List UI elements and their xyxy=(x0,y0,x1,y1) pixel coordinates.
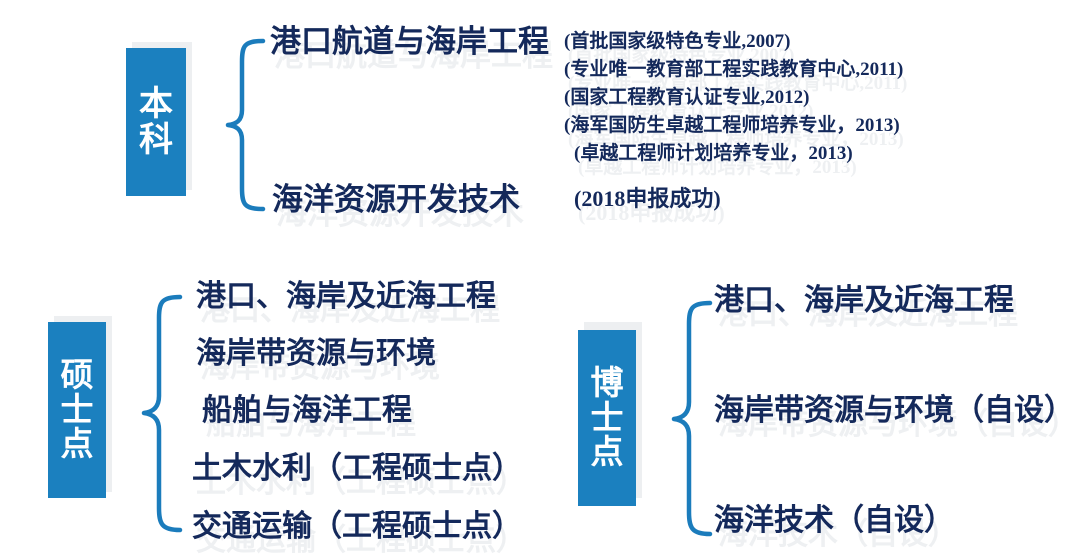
master-label-char-1: 士 xyxy=(61,393,94,428)
master-entry-2: 船舶与海洋工程 xyxy=(202,396,412,426)
doctoral-label-char-0: 博 xyxy=(591,366,624,401)
doctoral-entry-0: 港口、海岸及近海工程 xyxy=(714,286,1014,316)
undergraduate-note-1: (专业唯一教育部工程实践教育中心,2011) xyxy=(564,60,903,79)
doctoral-entry-2: 海洋技术（自设） xyxy=(714,506,954,536)
doctoral-entry-1: 海岸带资源与环境（自设） xyxy=(714,396,1074,426)
undergraduate-label-char-1: 科 xyxy=(139,122,173,158)
master-entry-0: 港口、海岸及近海工程 xyxy=(196,282,496,312)
master-brace xyxy=(118,292,188,540)
doctoral-label-char-1: 士 xyxy=(591,401,624,436)
master-level-box[interactable]: 硕 士 点 xyxy=(48,322,106,498)
master-label-char-0: 硕 xyxy=(61,358,94,393)
master-entry-3: 土木水利（工程硕士点） xyxy=(192,454,522,484)
undergraduate-note-3: (海军国防生卓越工程师培养专业，2013) xyxy=(564,116,900,135)
diagram-canvas: 本 科 港口航道与海岸工程 港口航道与海岸工程 (首批国家级特色专业,2007)… xyxy=(0,0,1081,554)
doctoral-label-char-2: 点 xyxy=(591,435,624,470)
master-label-char-2: 点 xyxy=(61,427,94,462)
doctoral-brace xyxy=(648,298,718,544)
undergraduate-note-2: (国家工程教育认证专业,2012) xyxy=(564,88,809,107)
undergraduate-entry-note-0: (2018申报成功) xyxy=(574,188,721,210)
undergraduate-note-0: (首批国家级特色专业,2007) xyxy=(564,32,790,51)
undergraduate-label-char-0: 本 xyxy=(139,86,173,122)
undergraduate-level-box[interactable]: 本 科 xyxy=(126,48,186,196)
master-entry-4: 交通运输（工程硕士点） xyxy=(192,512,522,542)
doctoral-level-box[interactable]: 博 士 点 xyxy=(578,330,636,506)
undergraduate-entry-1: 海洋资源开发技术 xyxy=(272,184,520,215)
undergraduate-entry-0: 港口航道与海岸工程 xyxy=(270,26,549,57)
master-entry-1: 海岸带资源与环境 xyxy=(196,339,436,369)
undergraduate-note-4: (卓越工程师计划培养专业，2013) xyxy=(574,144,853,163)
undergraduate-brace xyxy=(200,36,270,214)
